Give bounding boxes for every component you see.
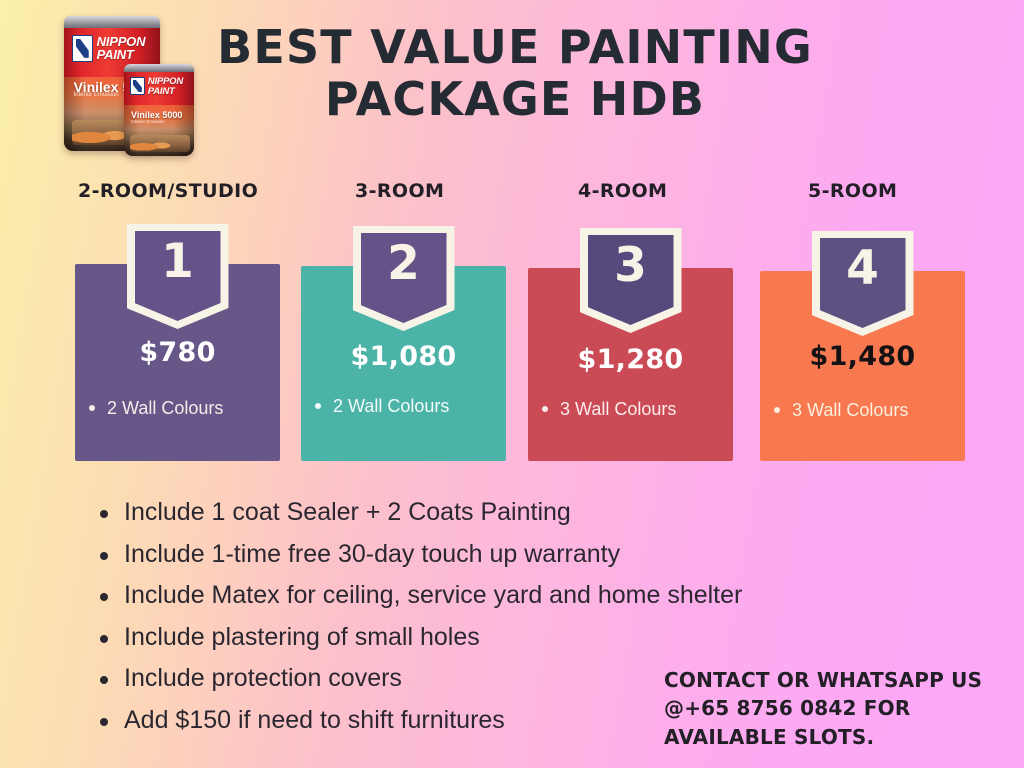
inclusion-item: Include plastering of small holes bbox=[92, 617, 952, 659]
badge-number: 1 bbox=[127, 238, 229, 285]
bullet-icon bbox=[100, 635, 108, 643]
inclusion-label: Include plastering of small holes bbox=[124, 623, 480, 651]
poster-canvas: NIPPON PAINT Vinilex 5000 Interior Emuls… bbox=[0, 0, 1024, 768]
inclusion-label: Include 1 coat Sealer + 2 Coats Painting bbox=[124, 498, 571, 526]
bullet-icon bbox=[315, 403, 321, 409]
card-feature: 3 Wall Colours bbox=[540, 399, 727, 420]
badge-number: 4 bbox=[812, 245, 914, 292]
card-feature-label: 3 Wall Colours bbox=[792, 400, 908, 420]
card-feature-label: 3 Wall Colours bbox=[560, 399, 676, 419]
bullet-icon bbox=[542, 406, 548, 412]
card-feature: 3 Wall Colours bbox=[772, 400, 959, 421]
bullet-icon bbox=[100, 552, 108, 560]
card-feature-label: 2 Wall Colours bbox=[333, 396, 449, 416]
card-number-badge: 3 bbox=[580, 228, 682, 333]
bullet-icon bbox=[100, 510, 108, 518]
card-price: $780 bbox=[75, 337, 280, 368]
inclusion-item: Include Matex for ceiling, service yard … bbox=[92, 575, 952, 617]
inclusion-label: Include Matex for ceiling, service yard … bbox=[124, 581, 742, 609]
card-number-badge: 2 bbox=[353, 226, 455, 331]
inclusion-label: Include 1-time free 30-day touch up warr… bbox=[124, 540, 620, 568]
inclusion-item: Include 1-time free 30-day touch up warr… bbox=[92, 534, 952, 576]
card-price: $1,280 bbox=[528, 344, 733, 375]
badge-number: 2 bbox=[353, 240, 455, 287]
card-number-badge: 1 bbox=[127, 224, 229, 329]
contact-line-2: @+65 8756 0842 FOR bbox=[664, 694, 1016, 722]
inclusion-label: Include protection covers bbox=[124, 664, 402, 692]
card-number-badge: 4 bbox=[812, 231, 914, 336]
card-price: $1,480 bbox=[760, 341, 965, 372]
card-feature: 2 Wall Colours bbox=[87, 398, 274, 419]
card-price: $1,080 bbox=[301, 341, 506, 372]
card-feature-label: 2 Wall Colours bbox=[107, 398, 223, 418]
bullet-icon bbox=[774, 407, 780, 413]
card-feature: 2 Wall Colours bbox=[313, 396, 500, 417]
contact-block[interactable]: CONTACT OR WHATSAPP US @+65 8756 0842 FO… bbox=[664, 666, 1016, 751]
contact-line-3: AVAILABLE SLOTS. bbox=[664, 723, 1016, 751]
bullet-icon bbox=[100, 718, 108, 726]
bullet-icon bbox=[100, 676, 108, 684]
badge-number: 3 bbox=[580, 242, 682, 289]
bullet-icon bbox=[89, 405, 95, 411]
inclusion-item: Include 1 coat Sealer + 2 Coats Painting bbox=[92, 492, 952, 534]
inclusion-label: Add $150 if need to shift furnitures bbox=[124, 706, 505, 734]
contact-line-1: CONTACT OR WHATSAPP US bbox=[664, 666, 1016, 694]
bullet-icon bbox=[100, 593, 108, 601]
